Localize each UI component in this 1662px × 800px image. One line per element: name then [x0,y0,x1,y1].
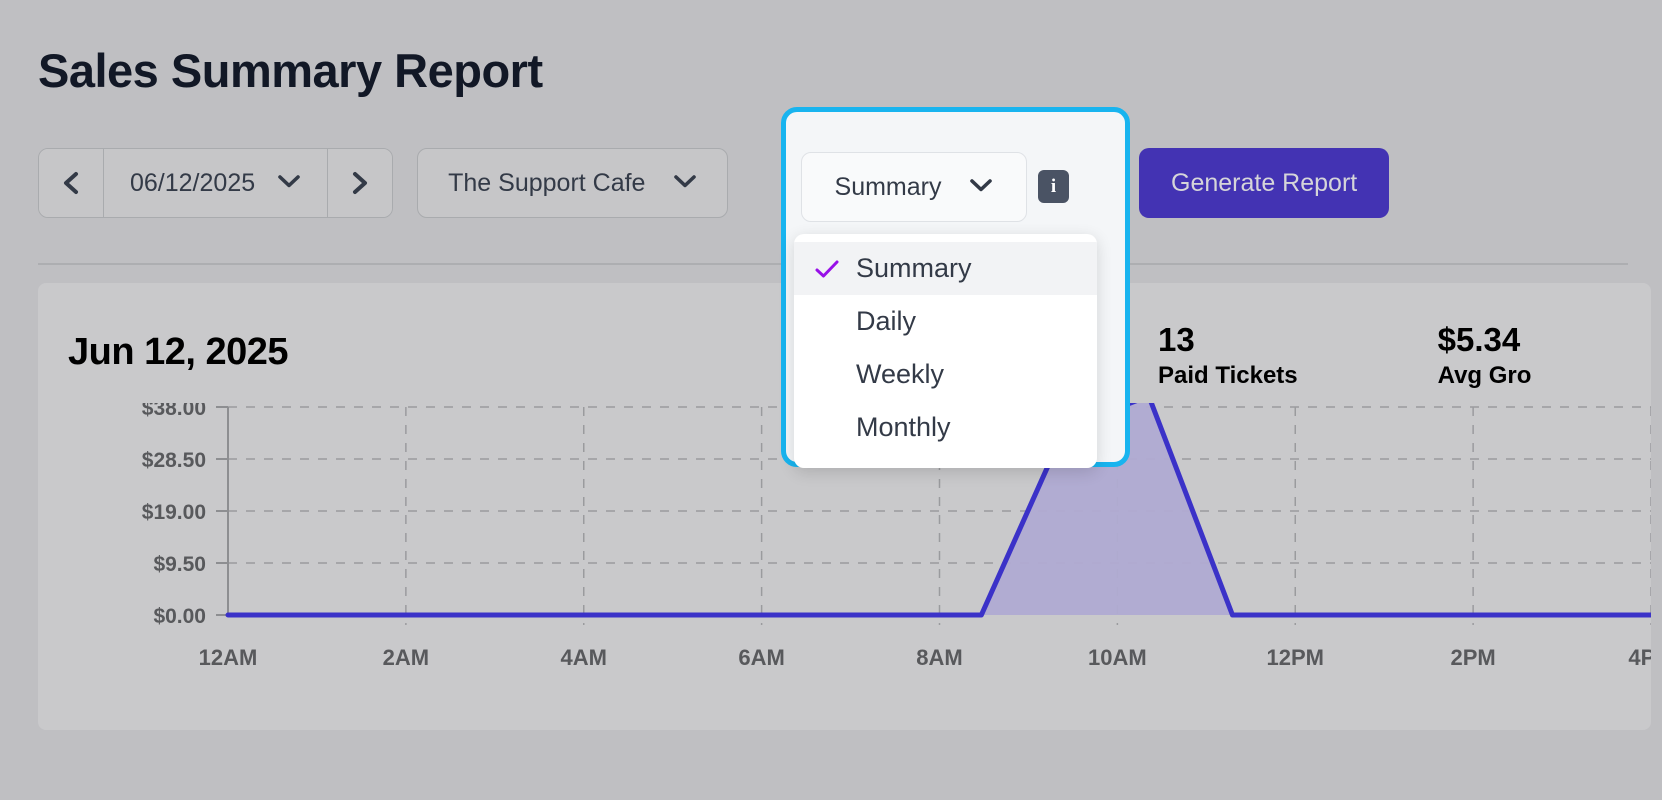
chevron-right-icon [350,169,370,197]
previous-date-button[interactable] [39,149,103,217]
menu-item-label: Daily [856,306,916,337]
info-button[interactable]: i [1038,170,1069,203]
menu-item-weekly[interactable]: Weekly [794,348,1097,401]
menu-item-label: Monthly [856,412,951,443]
date-navigation-group: 06/12/2025 [38,148,393,218]
x-axis-tick-label: 2PM [1451,645,1496,670]
x-axis-tick-label: 2AM [383,645,429,670]
y-axis-tick-label: $28.50 [142,449,206,472]
report-type-select[interactable]: Summary [801,152,1027,222]
date-select[interactable]: 06/12/2025 [104,149,327,217]
menu-item-label: Weekly [856,359,944,390]
page-title: Sales Summary Report [38,44,543,98]
info-icon: i [1051,177,1056,196]
check-icon [814,259,856,279]
chevron-left-icon [61,169,81,197]
y-axis-tick-label: $9.50 [153,553,206,576]
stat-paid-tickets: 13 Paid Tickets [1158,319,1298,393]
x-axis-tick-label: 12PM [1267,645,1324,670]
stat-avg-gross: $5.34 Avg Gro [1438,319,1532,393]
x-axis-tick-label: 10AM [1088,645,1147,670]
y-axis-tick-label: $38.00 [142,403,206,420]
x-axis-tick-label: 6AM [738,645,784,670]
x-axis-tick-label: 8AM [916,645,962,670]
next-date-button[interactable] [328,149,392,217]
x-axis-tick-label: 4AM [561,645,607,670]
report-type-select-value: Summary [835,173,942,202]
report-type-dropdown-menu: Summary Daily Weekly Monthly [794,234,1097,468]
chevron-down-icon [969,177,993,198]
report-date: Jun 12, 2025 [68,331,288,374]
y-axis-tick-label: $0.00 [153,605,206,628]
report-toolbar: 06/12/2025 The Support Cafe [38,148,728,218]
menu-item-label: Summary [856,253,972,284]
menu-item-daily[interactable]: Daily [794,295,1097,348]
x-axis-tick-label: 4PM [1628,645,1651,670]
store-select-value: The Support Cafe [448,169,645,198]
date-select-value: 06/12/2025 [130,169,255,198]
chevron-down-icon [673,173,697,194]
menu-item-summary[interactable]: Summary [794,242,1097,295]
stat-label: Avg Gro [1438,360,1532,392]
x-axis-tick-label: 12AM [199,645,258,670]
y-axis-tick-label: $19.00 [142,501,206,524]
chevron-down-icon [277,173,301,194]
store-select[interactable]: The Support Cafe [417,148,728,218]
generate-report-button[interactable]: Generate Report [1139,148,1389,218]
menu-item-monthly[interactable]: Monthly [794,401,1097,454]
stat-value: $5.34 [1438,319,1532,360]
stat-value: 13 [1158,319,1298,360]
stat-label: Paid Tickets [1158,360,1298,392]
report-stats: 13 Paid Tickets $5.34 Avg Gro [1158,319,1531,393]
